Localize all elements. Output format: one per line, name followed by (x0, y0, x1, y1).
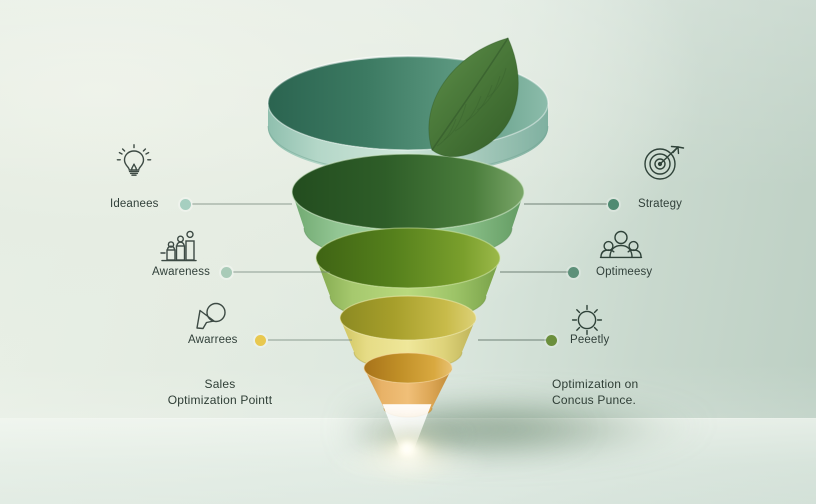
cursor-click-icon (190, 298, 234, 338)
annotation-left-3-dot[interactable] (255, 335, 266, 346)
annotation-left-1-dot[interactable] (180, 199, 191, 210)
annotation-right-2-label: Optimeesy (596, 266, 652, 278)
annotation-right-1-label: Strategy (638, 198, 682, 210)
target-icon (640, 140, 688, 184)
annotation-left-1-label: Ideanees (110, 198, 159, 210)
caption-right: Optimization on Concus Punce. (552, 376, 712, 408)
annotation-connectors (0, 0, 816, 504)
annotation-left-3-label: Awarrees (188, 334, 238, 346)
lightbulb-icon (112, 140, 156, 184)
annotation-left-2-dot[interactable] (221, 267, 232, 278)
illustration-canvas: Ideanees Awareness (0, 0, 816, 504)
annotation-right-3-dot[interactable] (546, 335, 557, 346)
bar-chart-people-icon (155, 228, 201, 268)
team-icon (598, 228, 644, 268)
annotation-right-1-dot[interactable] (608, 199, 619, 210)
annotation-right-2-dot[interactable] (568, 267, 579, 278)
annotation-left-2-label: Awareness (152, 266, 210, 278)
caption-left: Sales Optimization Pointt (160, 376, 280, 408)
annotation-right-3-label: Peeetly (570, 334, 609, 346)
